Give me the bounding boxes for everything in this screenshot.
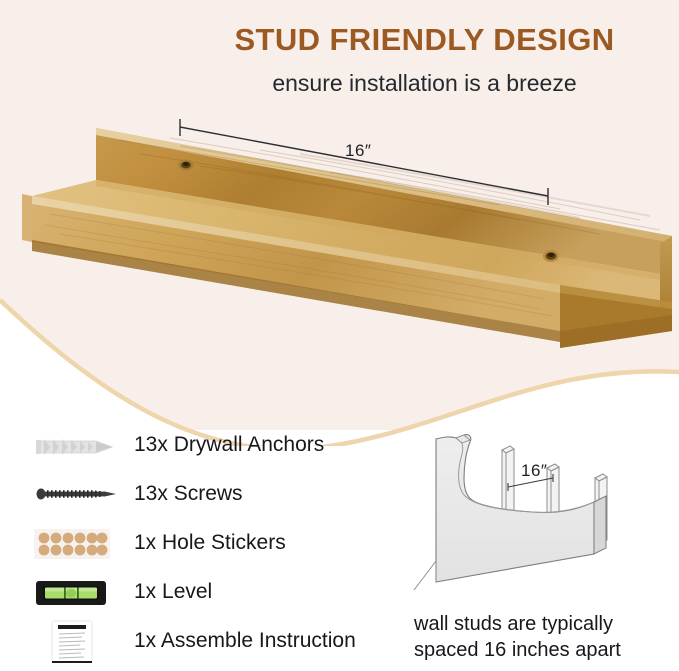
shelf-dimension-label: 16″ [345,141,371,161]
list-item: 13x Screws [22,469,392,518]
list-item: 1x Assemble Instruction [22,616,392,665]
mounting-hole [543,250,559,262]
list-item-label: 13x Drywall Anchors [134,433,324,457]
stud-caption: wall studs are typically spaced 16 inche… [414,612,676,663]
list-item: 1x Hole Stickers [22,518,392,567]
stud-spacing-diagram [408,430,670,605]
drywall-anchor-icon [30,423,130,467]
list-item-label: 13x Screws [134,482,243,506]
screw-icon [30,472,130,516]
bubble-level-icon [30,570,130,614]
hole-stickers-icon [30,521,130,565]
instruction-booklet-icon [30,619,130,663]
stud-caption-line2: spaced 16 inches apart [414,638,676,664]
list-item-label: 1x Assemble Instruction [134,629,356,653]
stud-dimension-label: 16″ [521,461,547,481]
shelf-illustration [0,110,679,370]
parts-list: 13x Drywall Anchors [22,420,392,665]
page-subtitle: ensure installation is a breeze [0,70,679,97]
list-item: 1x Level [22,567,392,616]
list-item: 13x Drywall Anchors [22,420,392,469]
infographic-root: STUD FRIENDLY DESIGN ensure installation… [0,0,679,671]
list-item-label: 1x Hole Stickers [134,531,286,555]
wall-stud [502,446,514,516]
page-title: STUD FRIENDLY DESIGN [0,22,679,58]
mounting-hole [179,160,194,171]
stud-caption-line1: wall studs are typically [414,613,613,635]
list-item-label: 1x Level [134,580,212,604]
